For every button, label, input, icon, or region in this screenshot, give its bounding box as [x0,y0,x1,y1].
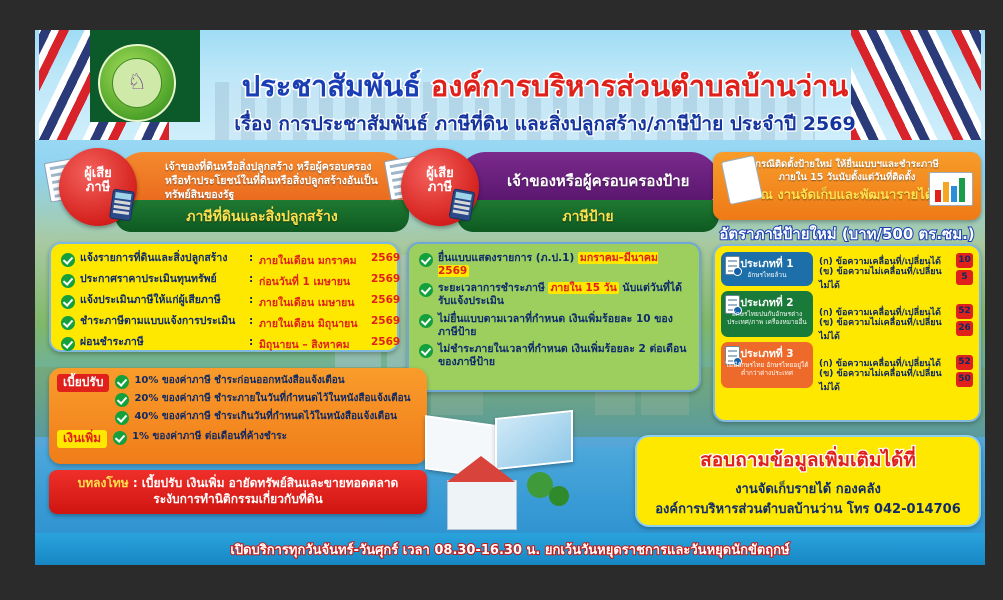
rate-line: (ข) ข้อความไม่เคลื่อนที่/เปลี่ยนไม่ได้ 5 [819,269,973,286]
land-row-separator: : [249,252,259,265]
rate-type-1-label: ประเภทที่ 1 อักษรไทยล้วน [721,252,813,286]
sign-tax-sub-label: ภาษีป้าย [562,206,613,228]
rate-line-label: (ข) ข้อความไม่เคลื่อนที่/เปลี่ยนไม่ได้ [819,366,952,394]
rate-type-row: ประเภทที่ 3 ไม่มีอักษรไทย อักษรไทยอยู่ใต… [721,342,973,388]
list-item: ระยะเวลาการชำระภาษี ภายใน 15 วัน นับแต่ว… [419,282,689,308]
check-icon [61,253,75,267]
page-subtitle: เรื่อง การประชาสัมพันธ์ ภาษีที่ดิน และสิ… [195,109,895,139]
land-row-period: ภายในเดือน มิถุนายน [259,315,371,332]
sign-row-text: ไม่ชำระภายในเวลาที่กำหนด เงินเพิ่มร้อยละ… [438,343,689,369]
check-icon [61,295,75,309]
table-row: ผ่อนชำระภาษี [61,336,249,351]
check-icon [61,337,75,351]
table-row: แจ้งประเมินภาษีให้แก่ผู้เสียภาษี [61,294,249,309]
land-row-label: ประกาศราคาประเมินทุนทรัพย์ [80,273,217,286]
sign-rate-card: ประเภทที่ 1 อักษรไทยล้วน (ก) ข้อความเคลื… [713,244,981,422]
land-row-year: 2569 [371,273,405,285]
sign-tax-taxpayer-banner: เจ้าของหรือผู้ครอบครองป้าย ภาษีป้าย ผู้เ… [401,152,701,232]
land-row-year: 2569 [371,315,405,327]
sign-row-text: ระยะเวลาการชำระภาษี ภายใน 15 วัน นับแต่ว… [438,282,689,308]
rate-line-label: (ข) ข้อความไม่เคลื่อนที่/เปลี่ยนไม่ได้ [819,264,952,292]
title-main-red: องค์การบริหารส่วนตำบลบ้านว่าน [431,69,848,103]
list-item: 1% ของค่าภาษี ต่อเดือนที่ค้างชำระ [113,430,287,445]
seal-emblem-glyph: ♘ [116,62,158,104]
rate-value-badge: 26 [956,321,973,336]
list-item: 20% ของค่าภาษี ชำระภายในวันที่กำหนดไว้ใน… [115,392,419,407]
list-item: ไม่ยื่นแบบตามเวลาที่กำหนด เงินเพิ่มร้อยล… [419,313,689,339]
notice-line-1: กรณีติดตั้งป้ายใหม่ ให้ยื่นแบบฯและชำระภา… [721,158,973,171]
punishment-text: บทลงโทษ : เบี้ยปรับ เงินเพิ่ม อายัดทรัพย… [78,476,399,507]
land-desc-line-1: เจ้าของที่ดินหรือสิ่งปลูกสร้าง หรือผู้คร… [165,161,372,173]
penalty-panel: เบี้ยปรับ 10% ของค่าภาษี ชำระก่อนออกหนัง… [49,368,427,464]
rate-type-row: ประเภทที่ 1 อักษรไทยล้วน (ก) ข้อความเคลื… [721,252,973,286]
contact-line-1: งานจัดเก็บรายได้ กองคลัง [637,481,979,499]
land-taxpayer-description: เจ้าของที่ดินหรือสิ่งปลูกสร้าง หรือผู้คร… [165,160,378,203]
rate-lines: (ก) ข้อความเคลื่อนที่/เปลี่ยนได้ 52 (ข) … [813,342,973,388]
bar-chart-monitor-icon [929,172,973,206]
land-schedule-table: แจ้งรายการที่ดินและสิ่งปลูกสร้าง : ภายใน… [61,252,387,353]
land-tax-schedule-panel: แจ้งรายการที่ดินและสิ่งปลูกสร้าง : ภายใน… [49,242,399,352]
list-item: ไม่ชำระภายในเวลาที่กำหนด เงินเพิ่มร้อยละ… [419,343,689,369]
rate-line-label: (ข) ข้อความไม่เคลื่อนที่/เปลี่ยนไม่ได้ [819,315,952,343]
rate-type-3-label: ประเภทที่ 3 ไม่มีอักษรไทย อักษรไทยอยู่ใต… [721,342,813,388]
screenshot-stage: ♘ ประชาสัมพันธ์ องค์การบริหารส่วนตำบลบ้า… [0,0,1003,600]
tree-shape [549,486,569,506]
surcharge-tag: เงินเพิ่ม [57,430,107,448]
land-row-period: มิถุนายน – สิงหาคม [259,336,371,353]
badge-line-1: ผู้เสีย [401,148,479,181]
contact-line-2: องค์การบริหารส่วนตำบลบ้านว่าน โทร 042-01… [637,501,979,519]
list-item: ยื่นแบบแสดงรายการ (ภ.ป.1) มกราคม–มีนาคม … [419,252,689,278]
check-icon [419,314,433,328]
check-icon [61,274,75,288]
land-tax-sub-label: ภาษีที่ดินและสิ่งปลูกสร้าง [186,206,337,228]
land-row-separator: : [249,336,259,349]
list-item: 40% ของค่าภาษี ชำระเกินวันที่กำหนดไว้ในห… [115,410,419,425]
sign-row-highlight: ภายใน 15 วัน [548,282,618,294]
check-icon [115,411,129,425]
rate-value-badge: 5 [956,270,973,285]
contact-box: สอบถามข้อมูลเพิ่มเติมได้ที่ งานจัดเก็บรา… [635,435,981,527]
tree-shape [527,472,553,498]
punishment-line-1: : เบี้ยปรับ เงินเพิ่ม อายัดทรัพย์สินและข… [129,476,399,490]
land-row-separator: : [249,315,259,328]
land-row-label: ผ่อนชำระภาษี [80,336,144,349]
land-row-label: แจ้งประเมินภาษีให้แก่ผู้เสียภาษี [80,294,221,307]
sign-tax-schedule-panel: ยื่นแบบแสดงรายการ (ภ.ป.1) มกราคม–มีนาคม … [407,242,701,392]
calculator-icon [109,189,135,222]
land-row-period: ภายในเดือน เมษายน [259,294,371,311]
land-row-year: 2569 [371,252,405,264]
house-shape [447,480,517,530]
sign-row-text: ยื่นแบบแสดงรายการ (ภ.ป.1) มกราคม–มีนาคม … [438,252,689,278]
rate-type-2-label: ประเภทที่ 2 อักษรไทยปนกับอักษรต่างประเทศ… [721,291,813,337]
rate-value-badge: 50 [956,372,973,387]
page-title: ประชาสัมพันธ์ องค์การบริหารส่วนตำบลบ้านว… [195,72,895,101]
punishment-line-2: ระงับการทำนิติกรรมเกี่ยวกับที่ดิน [153,492,322,506]
land-row-year: 2569 [371,336,405,348]
sign-tax-sub-label-bar: ภาษีป้าย [457,200,719,232]
fine-tag: เบี้ยปรับ [57,374,109,392]
land-tax-taxpayer-banner: เจ้าของที่ดินหรือสิ่งปลูกสร้าง หรือผู้คร… [59,152,409,232]
rate-type-desc: อักษรไทยล้วน [723,271,811,279]
office-hours-text: เปิดบริการทุกวันจันทร์-วันศุกร์ เวลา 08.… [230,539,789,560]
rate-type-desc: ไม่มีอักษรไทย อักษรไทยอยู่ใต้ ต่ำกว่าต่า… [723,361,811,377]
land-row-label: แจ้งรายการที่ดินและสิ่งปลูกสร้าง [80,252,227,265]
poster-footer: เปิดบริการทุกวันจันทร์-วันศุกร์ เวลา 08.… [35,533,985,565]
rate-line: (ข) ข้อความไม่เคลื่อนที่/เปลี่ยนไม่ได้ 5… [819,371,973,388]
rate-line: (ข) ข้อความไม่เคลื่อนที่/เปลี่ยนไม่ได้ 2… [819,320,973,337]
rate-type-row: ประเภทที่ 2 อักษรไทยปนกับอักษรต่างประเทศ… [721,291,973,337]
poster-header: ♘ ประชาสัมพันธ์ องค์การบริหารส่วนตำบลบ้า… [35,30,985,140]
fine-row-text: 10% ของค่าภาษี ชำระก่อนออกหนังสือแจ้งเตื… [134,374,344,387]
blank-billboard-shape [425,415,495,479]
land-row-separator: : [249,294,259,307]
rate-value-badge: 52 [956,355,973,370]
rate-value-badge: 10 [956,253,973,268]
contact-heading: สอบถามข้อมูลเพิ่มเติมได้ที่ [637,445,979,475]
land-tax-sub-label-bar: ภาษีที่ดินและสิ่งปลูกสร้าง [115,200,409,232]
check-icon [419,283,433,297]
check-icon [419,253,433,267]
organization-seal-icon: ♘ [98,44,176,122]
check-icon [61,316,75,330]
table-row: แจ้งรายการที่ดินและสิ่งปลูกสร้าง [61,252,249,267]
land-desc-line-2: หรือทำประโยชน์ในที่ดินหรือสิ่งปลูกสร้างอ… [165,175,378,187]
table-row: ประกาศราคาประเมินทุนทรัพย์ [61,273,249,288]
land-row-label: ชำระภาษีตามแบบแจ้งการประเมิน [80,315,235,328]
land-row-period: ภายในเดือน มกราคม [259,252,371,269]
sign-taxpayer-description: เจ้าของหรือผู้ครอบครองป้าย [507,171,689,191]
badge-line-1: ผู้เสีย [59,148,137,181]
title-main-blue: ประชาสัมพันธ์ [242,69,431,103]
land-row-period: ก่อนวันที่ 1 เมษายน [259,273,371,290]
fine-row-text: 20% ของค่าภาษี ชำระภายในวันที่กำหนดไว้ใน… [134,392,410,405]
punishment-tag: บทลงโทษ [78,476,129,490]
rate-type-desc: อักษรไทยปนกับอักษรต่างประเทศ/ภาพ เครื่อง… [723,310,811,326]
roof-shape [447,456,515,482]
poster: ♘ ประชาสัมพันธ์ องค์การบริหารส่วนตำบลบ้า… [35,30,985,565]
check-icon [115,393,129,407]
table-row: ชำระภาษีตามแบบแจ้งการประเมิน [61,315,249,330]
check-icon [115,375,129,389]
sky-billboard-shape [495,410,573,470]
check-icon [419,344,433,358]
land-row-year: 2569 [371,294,405,306]
punishment-ribbon: บทลงโทษ : เบี้ยปรับ เงินเพิ่ม อายัดทรัพย… [49,470,427,514]
surcharge-row-text: 1% ของค่าภาษี ต่อเดือนที่ค้างชำระ [132,430,287,443]
land-row-separator: : [249,273,259,286]
list-item: 10% ของค่าภาษี ชำระก่อนออกหนังสือแจ้งเตื… [115,374,419,389]
rate-value-badge: 52 [956,304,973,319]
sign-rate-title: อัตราภาษีป้ายใหม่ (บาท/500 ตร.ซม.) [713,222,981,246]
rate-lines: (ก) ข้อความเคลื่อนที่/เปลี่ยนได้ 10 (ข) … [813,252,973,286]
sign-row-text: ไม่ยื่นแบบตามเวลาที่กำหนด เงินเพิ่มร้อยล… [438,313,689,339]
fine-row-text: 40% ของค่าภาษี ชำระเกินวันที่กำหนดไว้ในห… [134,410,397,423]
check-icon [113,431,127,445]
rate-lines: (ก) ข้อความเคลื่อนที่/เปลี่ยนได้ 52 (ข) … [813,291,973,337]
